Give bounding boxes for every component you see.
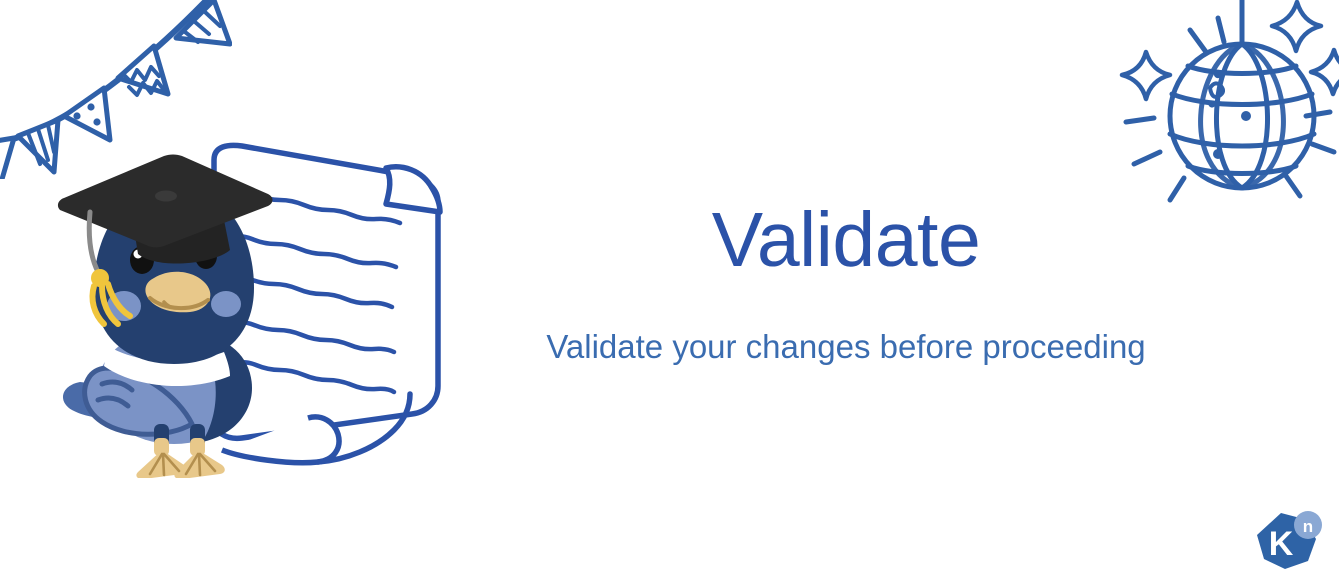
- graduate-bird-with-scroll-illustration: [46, 138, 466, 478]
- page-title: Validate: [466, 200, 1226, 281]
- logo-primary-letter: K: [1269, 525, 1294, 563]
- slide-text-block: Validate Validate your changes before pr…: [466, 200, 1226, 366]
- logo-secondary-letter: n: [1303, 517, 1313, 536]
- page-subtitle: Validate your changes before proceeding: [466, 327, 1226, 367]
- kn-logo: K n: [1248, 505, 1324, 577]
- disco-ball-icon: [1114, 0, 1339, 226]
- validate-slide: Validate Validate your changes before pr…: [0, 0, 1341, 585]
